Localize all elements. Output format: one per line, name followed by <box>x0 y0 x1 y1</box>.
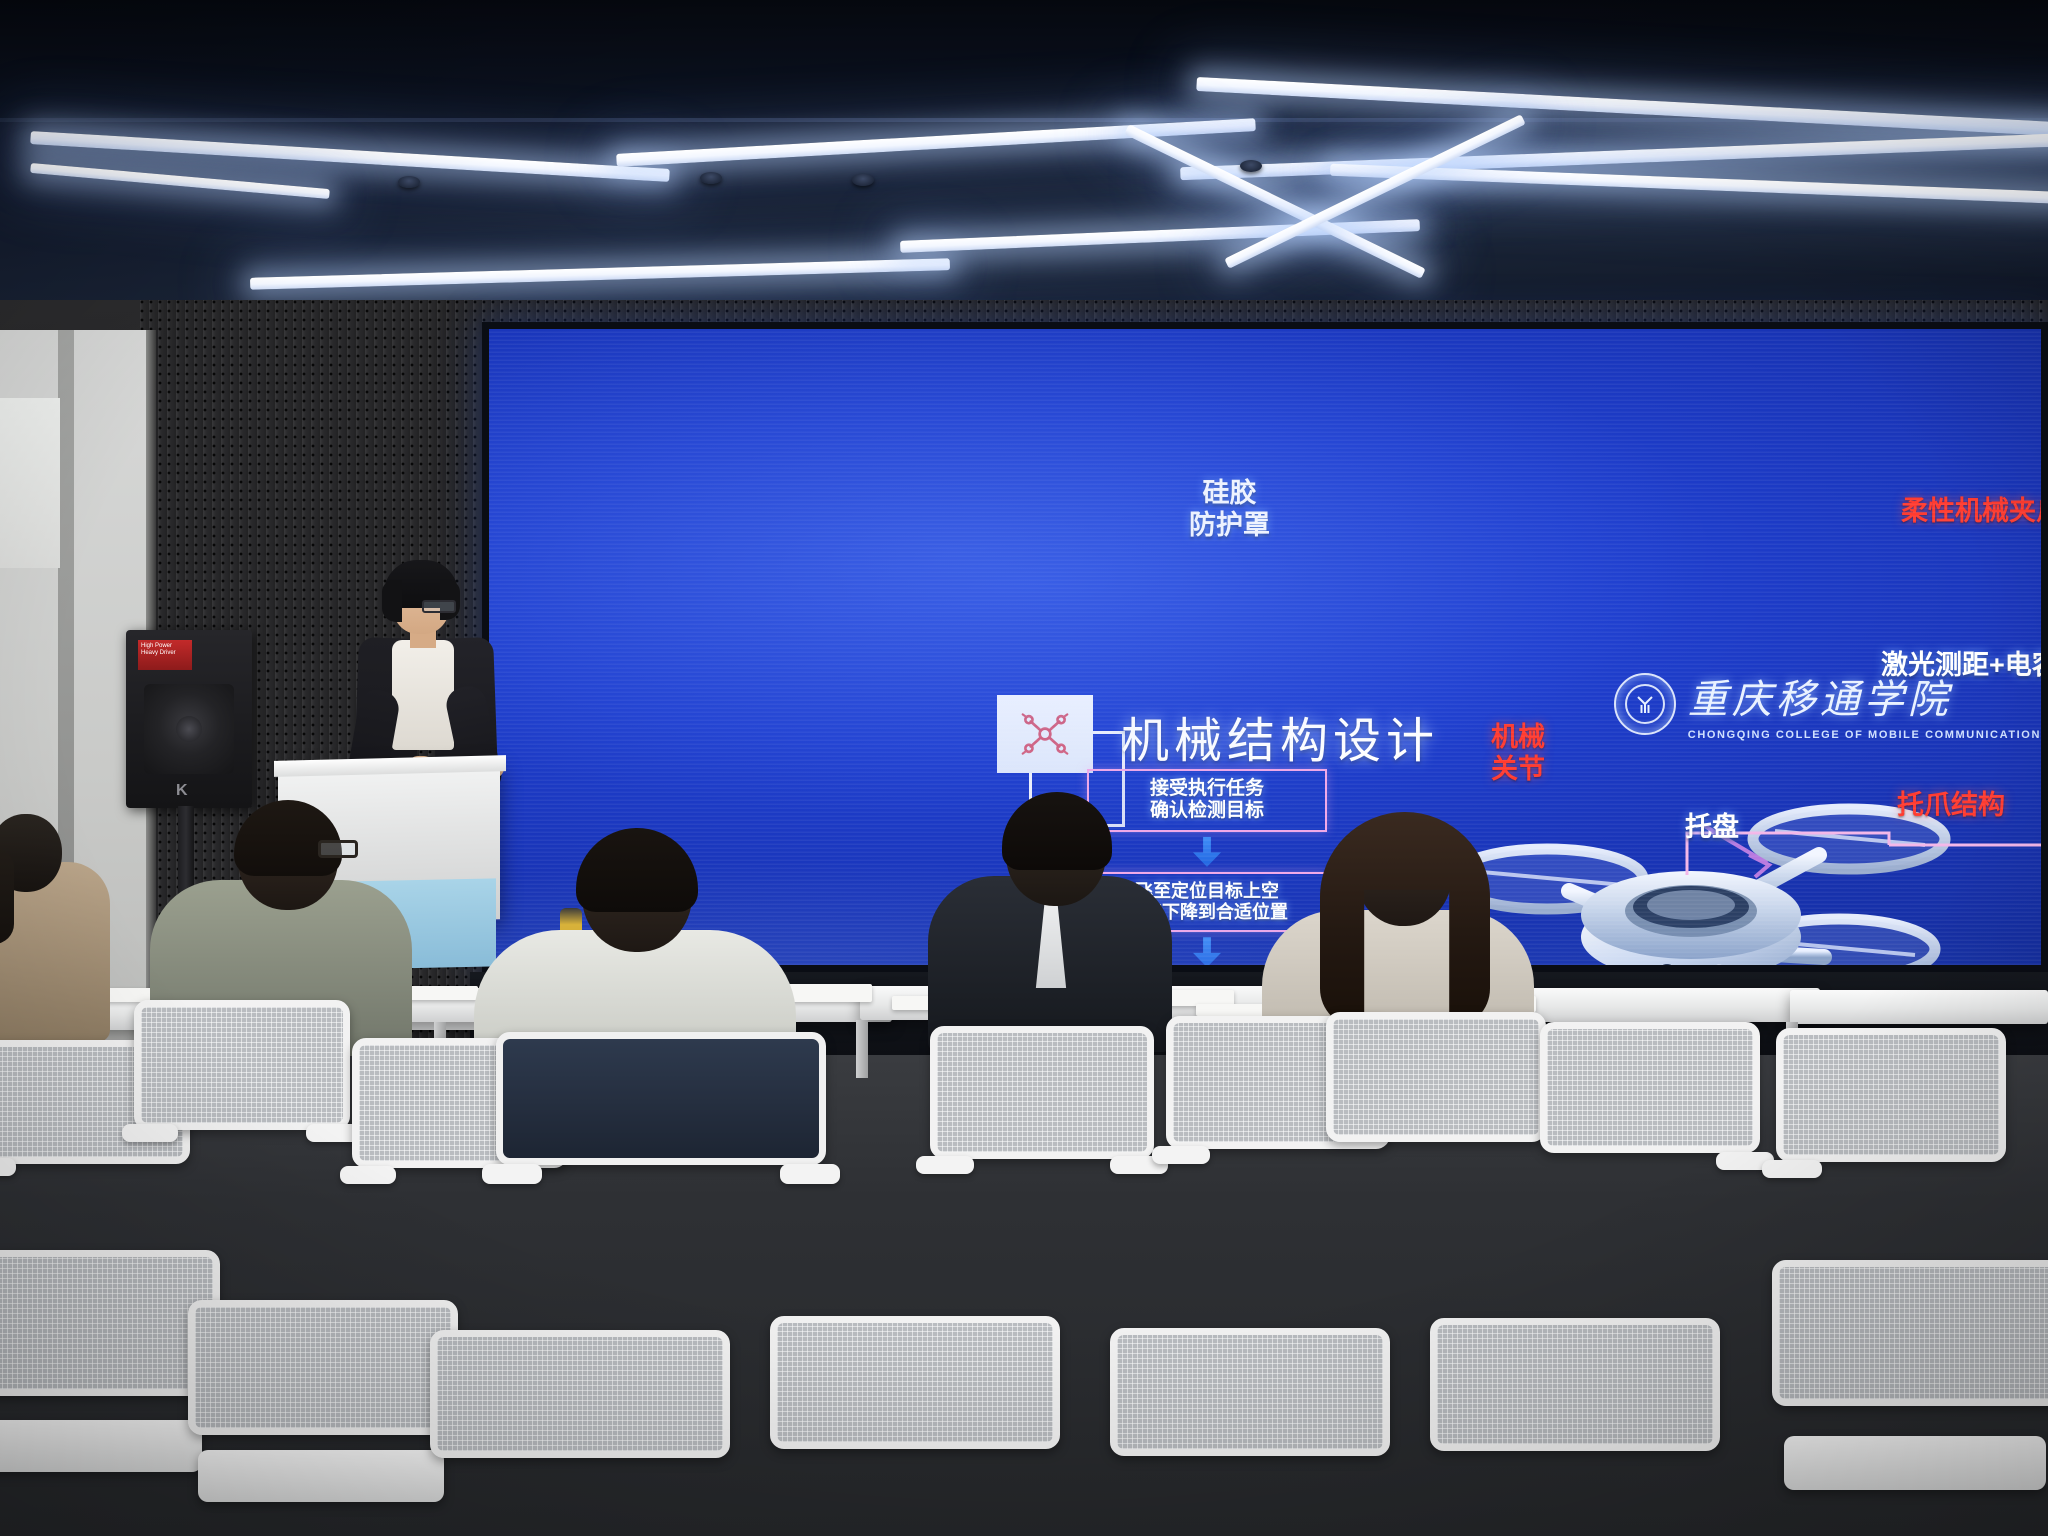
chair-armrest <box>482 1164 542 1184</box>
chair-backrest <box>1540 1022 1760 1153</box>
chair-backrest <box>770 1316 1060 1449</box>
chair[interactable] <box>0 1250 220 1530</box>
chair[interactable] <box>1110 1328 1390 1536</box>
lecture-hall-scene: 机械结构设计 重庆移通学院 CHONGQING CO <box>0 0 2048 1536</box>
presenter-glasses <box>422 600 456 613</box>
ceiling-dark-band <box>0 0 2048 120</box>
chair[interactable] <box>430 1330 730 1536</box>
paper-sheet <box>1196 1004 1266 1016</box>
chair[interactable] <box>188 1300 458 1536</box>
speaker-warning-label: High Power Heavy Driver <box>138 640 192 670</box>
chair-backrest <box>1772 1260 2048 1406</box>
presenter-hair-side <box>382 580 402 622</box>
desk-leg <box>856 1020 868 1078</box>
chair-backrest <box>1430 1318 1720 1451</box>
audience-member <box>0 796 120 1036</box>
ceiling-spotlight <box>852 174 874 186</box>
label-silicone-cover: 硅胶 防护罩 <box>1189 477 1270 542</box>
chair-backrest <box>430 1330 730 1458</box>
chair-armrest <box>340 1166 396 1184</box>
chair-seat <box>0 1420 202 1472</box>
chair[interactable] <box>496 1032 826 1262</box>
label-laser-ranging-capacitive-sensor: 激光测距+电容传 <box>1881 649 2041 681</box>
ceiling-spotlight <box>700 172 722 184</box>
chair[interactable] <box>930 1026 1154 1240</box>
desk <box>1790 990 2048 1024</box>
label-flexible-gripper: 柔性机械夹爪 <box>1901 495 2041 527</box>
audience-member <box>928 784 1178 1044</box>
chair-armrest <box>1762 1160 1822 1178</box>
chair-armrest <box>916 1156 974 1174</box>
chair-backrest <box>1776 1028 2006 1162</box>
chair[interactable] <box>1430 1318 1720 1536</box>
chair-armrest <box>780 1164 840 1184</box>
label-line: 防护罩 <box>1189 509 1270 541</box>
chair-seat <box>1784 1436 2046 1490</box>
chair[interactable] <box>1772 1260 2048 1536</box>
chair-seat <box>198 1450 444 1502</box>
chair-armrest <box>1152 1146 1210 1164</box>
presenter-shirt <box>392 640 454 750</box>
chair-backrest <box>496 1032 826 1165</box>
label-line: 硅胶 <box>1189 477 1270 509</box>
left-wall-light-panel <box>0 398 60 568</box>
ceiling-spotlight <box>398 176 420 188</box>
ceiling-spotlight <box>1240 160 1262 172</box>
chair[interactable] <box>134 1000 350 1210</box>
chair-armrest <box>122 1124 178 1142</box>
audience-glasses <box>318 840 358 858</box>
chair-backrest <box>134 1000 350 1130</box>
chair[interactable] <box>1540 1022 1760 1234</box>
speaker-driver <box>144 684 234 774</box>
audience-hair <box>0 848 14 944</box>
chair-backrest <box>188 1300 458 1435</box>
chair[interactable] <box>1326 1012 1546 1222</box>
pa-speaker: High Power Heavy Driver K <box>126 630 252 808</box>
chair-backrest <box>1110 1328 1390 1456</box>
chair-backrest <box>1326 1012 1546 1142</box>
chair-backrest <box>0 1250 220 1396</box>
chair[interactable] <box>770 1316 1060 1536</box>
audience-hair <box>1002 792 1112 870</box>
chair-backrest <box>930 1026 1154 1159</box>
audience-hair <box>234 800 342 876</box>
chair-armrest <box>0 1158 16 1176</box>
chair[interactable] <box>1776 1028 2006 1244</box>
audience-hair <box>576 828 698 912</box>
